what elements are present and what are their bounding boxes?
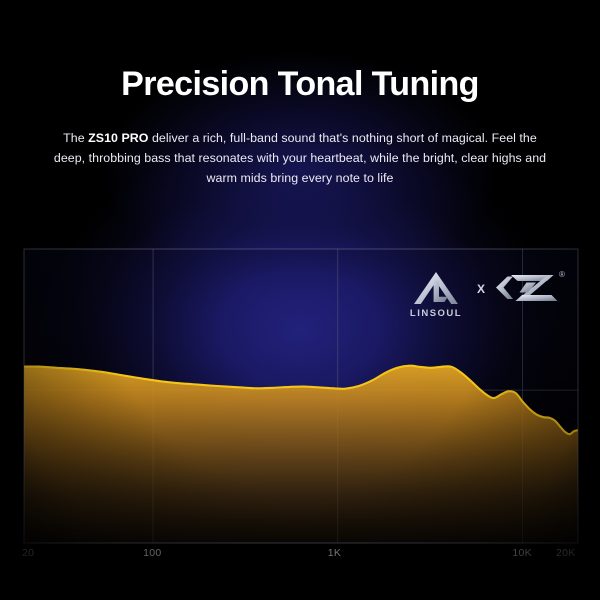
registered-mark-icon: ® bbox=[559, 270, 565, 279]
kz-logo-icon: ® bbox=[495, 268, 567, 308]
product-name: ZS10 PRO bbox=[88, 131, 148, 145]
brand-separator: X bbox=[477, 282, 485, 308]
brand-lockup: LINSOUL X bbox=[405, 266, 575, 324]
page-description: The ZS10 PRO deliver a rich, full-band s… bbox=[50, 128, 550, 188]
linsoul-brand: LINSOUL bbox=[405, 271, 467, 319]
x-tick-100: 100 bbox=[143, 547, 161, 559]
x-tick-20K: 20K bbox=[556, 547, 576, 559]
promo-banner: 201001K10K20K LI bbox=[0, 0, 600, 600]
page-title: Precision Tonal Tuning bbox=[0, 66, 600, 103]
x-tick-20: 20 bbox=[22, 547, 34, 559]
description-part-1: The bbox=[63, 131, 88, 145]
linsoul-wordmark: LINSOUL bbox=[410, 308, 462, 319]
x-tick-1K: 1K bbox=[328, 547, 341, 559]
x-tick-10K: 10K bbox=[512, 547, 532, 559]
kz-brand: ® bbox=[495, 268, 567, 323]
linsoul-logo-icon bbox=[413, 271, 459, 305]
